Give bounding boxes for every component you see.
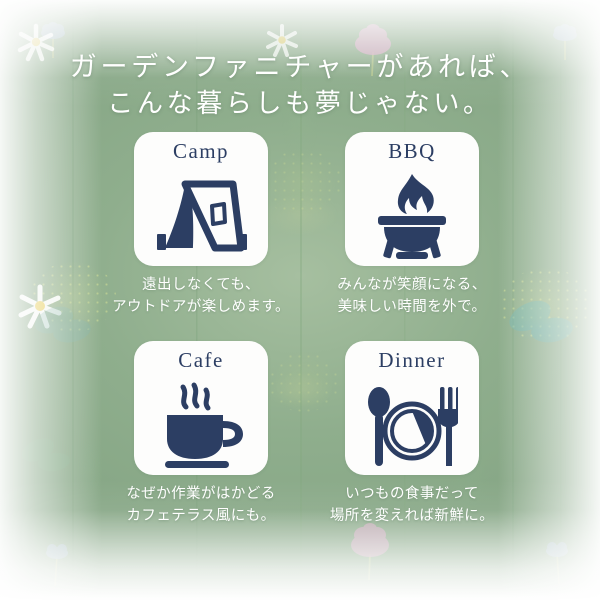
caption-camp-line-1: 遠出しなくても、 xyxy=(112,275,290,297)
caption-cafe-line-2: カフェテラス風にも。 xyxy=(112,506,290,528)
caption-cafe: なぜか作業がはかどる カフェテラス風にも。 xyxy=(112,484,290,528)
card-title-cafe: Cafe xyxy=(134,350,268,371)
caption-dinner-line-2: 場所を変えれば新鮮に。 xyxy=(323,506,501,528)
coffee-cup-icon xyxy=(155,381,247,469)
poster-canvas: ガーデンファニチャーがあれば、 こんな暮らしも夢じゃない。 Camp 遠出しなく… xyxy=(0,0,600,600)
headline: ガーデンファニチャーがあれば、 こんな暮らしも夢じゃない。 xyxy=(0,48,600,123)
plate-cutlery-icon xyxy=(366,381,458,469)
caption-camp-line-2: アウトドアが楽しめます。 xyxy=(112,297,290,319)
caption-dinner-line-1: いつもの食事だって xyxy=(323,484,501,506)
bbq-grill-icon xyxy=(366,172,458,260)
card-title-dinner: Dinner xyxy=(345,350,479,371)
caption-dinner: いつもの食事だって 場所を変えれば新鮮に。 xyxy=(323,484,501,528)
headline-line-1: ガーデンファニチャーがあれば、 xyxy=(0,48,600,86)
feature-bbq[interactable]: BBQ みんなが笑顔になる、 美味しい時間を外で。 xyxy=(323,132,501,319)
feature-dinner[interactable]: Dinner いつもの食事だって xyxy=(323,341,501,528)
feature-camp[interactable]: Camp 遠出しなくても、 アウトドアが楽しめます。 xyxy=(112,132,290,319)
card-cafe[interactable]: Cafe xyxy=(134,341,268,475)
feature-cafe[interactable]: Cafe なぜか作業がはかどる カフェテラス風にも。 xyxy=(112,341,290,528)
card-bbq[interactable]: BBQ xyxy=(345,132,479,266)
headline-line-2: こんな暮らしも夢じゃない。 xyxy=(0,86,600,123)
caption-bbq-line-2: 美味しい時間を外で。 xyxy=(323,297,501,319)
card-camp[interactable]: Camp xyxy=(134,132,268,266)
tent-icon xyxy=(155,172,247,260)
caption-bbq-line-1: みんなが笑顔になる、 xyxy=(323,275,501,297)
caption-cafe-line-1: なぜか作業がはかどる xyxy=(112,484,290,506)
card-title-camp: Camp xyxy=(134,141,268,162)
card-title-bbq: BBQ xyxy=(345,141,479,162)
card-dinner[interactable]: Dinner xyxy=(345,341,479,475)
caption-camp: 遠出しなくても、 アウトドアが楽しめます。 xyxy=(112,275,290,319)
caption-bbq: みんなが笑顔になる、 美味しい時間を外で。 xyxy=(323,275,501,319)
